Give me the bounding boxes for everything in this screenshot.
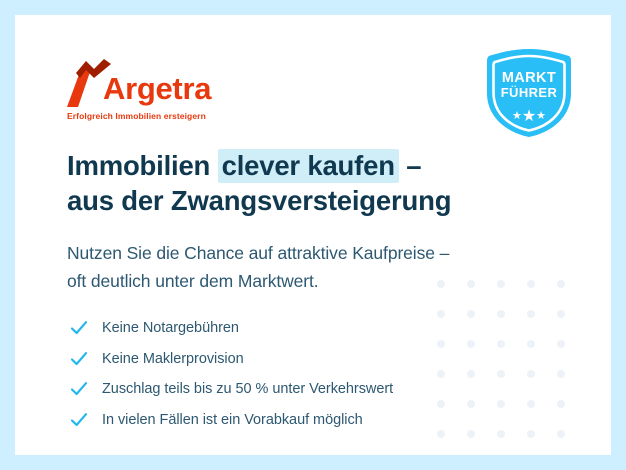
decorative-dot: [557, 370, 565, 378]
subheading-line-1: Nutzen Sie die Chance auf attraktive Kau…: [67, 239, 557, 267]
headline-text-after: –: [399, 150, 422, 181]
list-item: In vielen Fällen ist ein Vorabkauf mögli…: [70, 405, 540, 436]
list-item: Keine Maklerprovision: [70, 344, 540, 375]
decorative-dot: [557, 280, 565, 288]
logo-wordmark: Argetra: [103, 73, 211, 104]
list-item-label: Zuschlag teils bis zu 50 % unter Verkehr…: [102, 381, 393, 397]
decorative-dot: [557, 430, 565, 438]
decorative-dot: [557, 400, 565, 408]
headline-line-2: aus der Zwangsversteigerung: [67, 184, 537, 219]
subheading-line-2: oft deutlich unter dem Marktwert.: [67, 267, 557, 295]
headline-line-1: Immobilien clever kaufen –: [67, 149, 537, 184]
benefits-list: Keine Notargebühren Keine Maklerprovisio…: [70, 313, 540, 435]
argetra-logo[interactable]: Argetra Erfolgreich Immobilien ersteiger…: [67, 57, 227, 127]
list-item-label: In vielen Fällen ist ein Vorabkauf mögli…: [102, 412, 363, 428]
list-item-label: Keine Notargebühren: [102, 320, 239, 336]
check-icon: [70, 411, 88, 429]
list-item: Keine Notargebühren: [70, 313, 540, 344]
headline-text-before: Immobilien: [67, 150, 218, 181]
check-icon: [70, 319, 88, 337]
decorative-dot: [557, 340, 565, 348]
shield-icon: [483, 47, 575, 139]
page-title: Immobilien clever kaufen – aus der Zwang…: [67, 149, 537, 218]
headline-highlight: clever kaufen: [218, 149, 399, 183]
decorative-dot: [557, 310, 565, 318]
list-item-label: Keine Maklerprovision: [102, 351, 244, 367]
subheading: Nutzen Sie die Chance auf attraktive Kau…: [67, 239, 557, 296]
list-item: Zuschlag teils bis zu 50 % unter Verkehr…: [70, 374, 540, 405]
check-icon: [70, 350, 88, 368]
check-icon: [70, 380, 88, 398]
promo-card: Argetra Erfolgreich Immobilien ersteiger…: [15, 15, 611, 455]
logo-tagline: Erfolgreich Immobilien ersteigern: [67, 111, 206, 121]
market-leader-badge: MARKT FÜHRER ★★★: [483, 47, 575, 139]
